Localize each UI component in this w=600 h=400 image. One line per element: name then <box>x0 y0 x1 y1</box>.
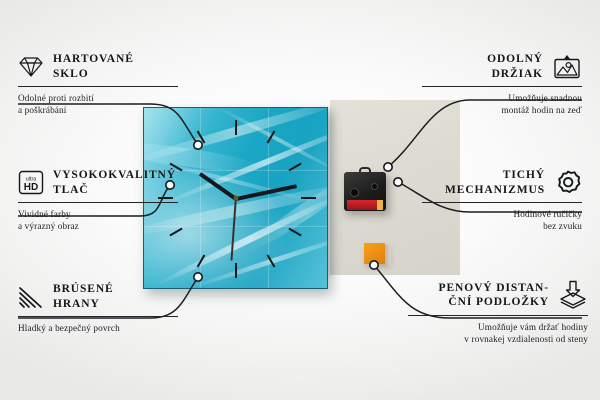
svg-text:HD: HD <box>24 182 38 193</box>
feature-high-quality-print: ultra HD VYSOKOKVALITNÝ TLAČ Vividné far… <box>18 168 178 232</box>
callout-dot-foam <box>370 261 378 269</box>
feature-description: Umožňuje vám držať hodiny v rovnakej vzd… <box>408 321 588 345</box>
divider <box>18 316 178 317</box>
feature-tempered-glass: HARTOVANÉ SKLO Odolné proti rozbití a po… <box>18 52 178 116</box>
feature-title: HARTOVANÉ SKLO <box>53 52 134 81</box>
infographic-stage: HARTOVANÉ SKLO Odolné proti rozbití a po… <box>0 0 600 400</box>
ultra-hd-icon: ultra HD <box>18 170 44 195</box>
diamond-icon <box>18 56 44 78</box>
divider <box>18 86 178 87</box>
callout-dot-glass <box>194 141 202 149</box>
callout-dot-hanger <box>384 163 392 171</box>
picture-hanger-icon <box>552 54 582 80</box>
press-down-layers-icon <box>558 280 588 310</box>
beveled-edges-icon <box>18 285 44 309</box>
feature-title: TICHÝ MECHANIZMUS <box>445 168 545 197</box>
feature-title: PENOVÝ DISTAN- ČNÍ PODLOŽKY <box>439 281 549 310</box>
gear-icon <box>554 169 582 197</box>
feature-beveled-edges: BRÚSENÉ HRANY Hladký a bezpečný povrch <box>18 282 178 334</box>
feature-description: Umožňuje snadnou montáž hodin na zeď <box>422 92 582 116</box>
feature-description: Vividné farby a výrazný obraz <box>18 208 178 232</box>
feature-description: Hodinové ručičky bez zvuku <box>422 208 582 232</box>
divider <box>408 315 588 316</box>
feature-durable-hanger: ODOLNÝ DRŽIAK Umožňuje snadnou montáž ho… <box>422 52 582 116</box>
callout-dot-mechanism <box>394 178 402 186</box>
feature-silent-mechanism: TICHÝ MECHANIZMUS Hodinové ručičky bez z… <box>422 168 582 232</box>
feature-title: ODOLNÝ DRŽIAK <box>487 52 543 81</box>
feature-title: BRÚSENÉ HRANY <box>53 282 114 311</box>
feature-description: Odolné proti rozbití a poškrábání <box>18 92 178 116</box>
feature-foam-spacers: PENOVÝ DISTAN- ČNÍ PODLOŽKY Umožňuje vám… <box>408 280 588 345</box>
divider <box>422 202 582 203</box>
divider <box>422 86 582 87</box>
divider <box>18 202 178 203</box>
feature-description: Hladký a bezpečný povrch <box>18 322 178 334</box>
feature-title: VYSOKOKVALITNÝ TLAČ <box>53 168 176 197</box>
callout-dot-edges <box>194 273 202 281</box>
